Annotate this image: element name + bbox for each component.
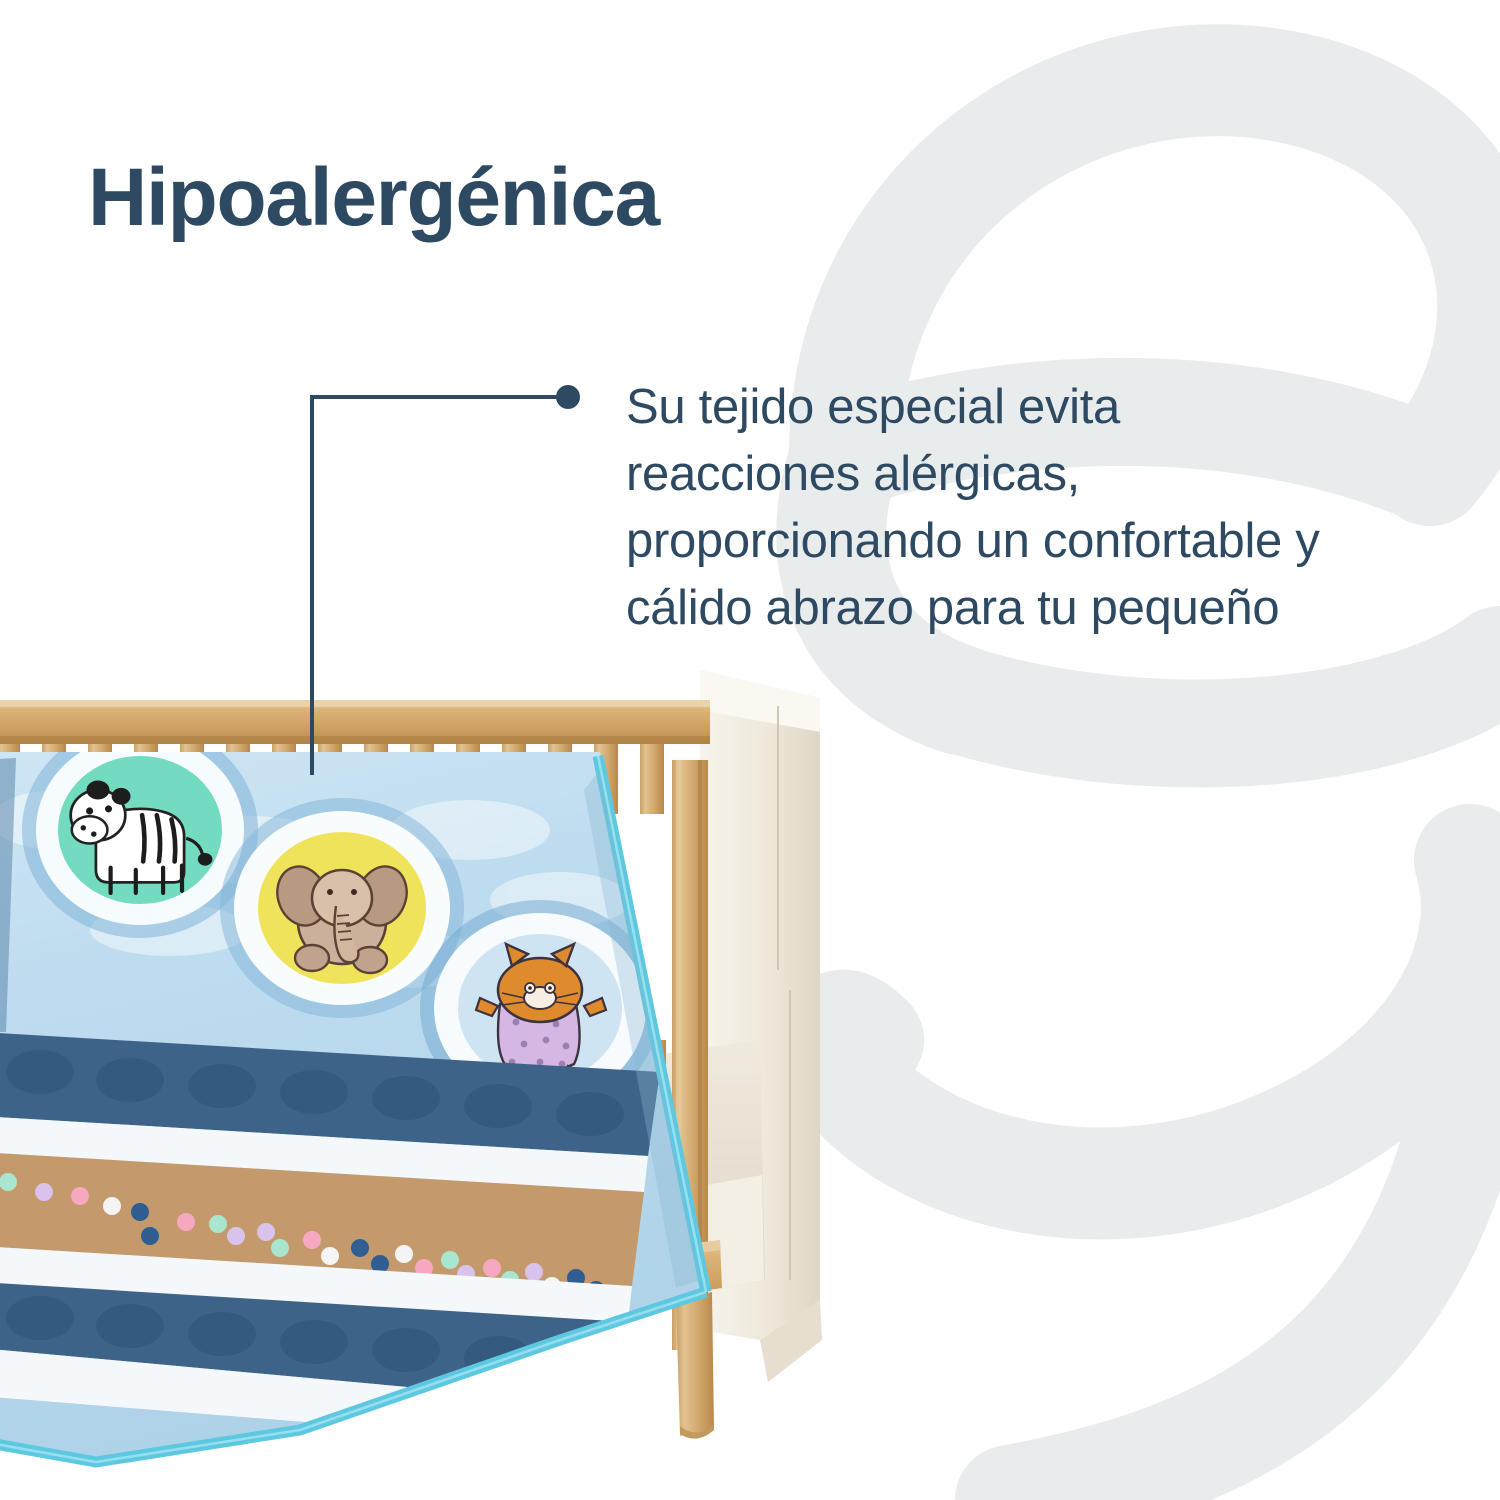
body-line-2: reacciones alérgicas,	[626, 441, 1456, 508]
page-title: Hipoalergénica	[88, 151, 659, 245]
baby-blanket	[0, 722, 740, 1460]
body-line-3: proporcionando un confortable y	[626, 508, 1456, 575]
callout-dot-icon	[556, 385, 580, 409]
promo-graphic-canvas: Hipoalergénica Su tejido especial evita …	[0, 0, 1500, 1500]
callout-body-text: Su tejido especial evita reacciones alér…	[626, 374, 1456, 642]
body-line-4: cálido abrazo para tu pequeño	[626, 575, 1456, 642]
product-photo	[0, 640, 920, 1500]
body-line-1: Su tejido especial evita	[626, 374, 1456, 441]
blanket-stripes	[0, 1032, 660, 1446]
